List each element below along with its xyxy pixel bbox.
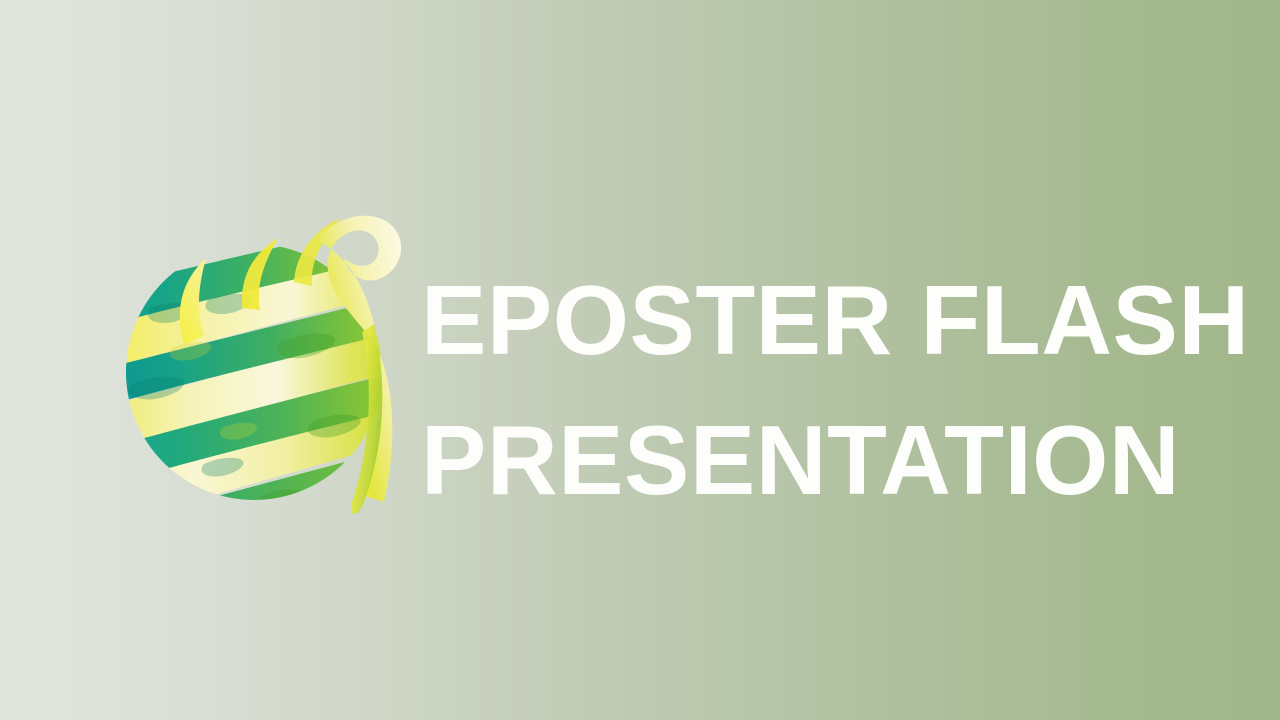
title-line-2: PRESENTATION [421,390,1221,530]
page-title: EPOSTER FLASH PRESENTATION [421,250,1221,530]
spiral-ribbon-globe-logo [112,196,412,516]
title-line-1: EPOSTER FLASH [421,250,1221,390]
presentation-slide: EPOSTER FLASH PRESENTATION [0,0,1280,720]
